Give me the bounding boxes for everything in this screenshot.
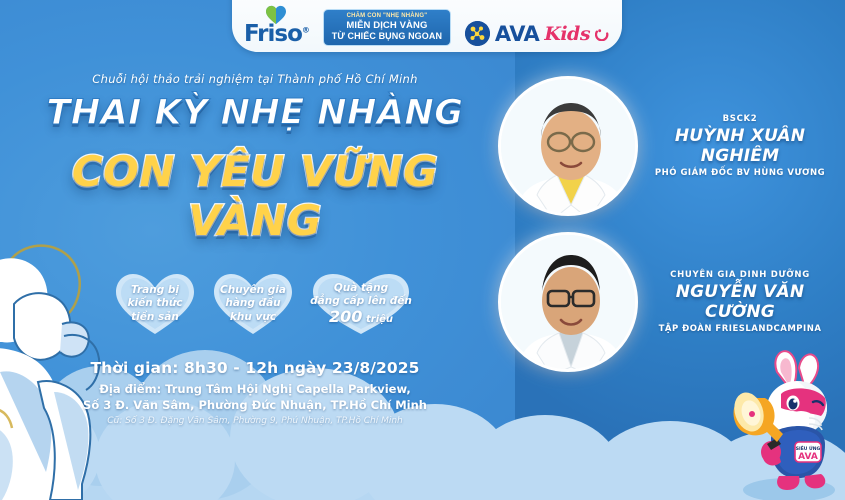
ava-dot-icon [465,21,490,46]
main-content: Chuỗi hội thảo trải nghiệm tại Thành phố… [0,72,510,426]
badge-line: Trang bị [131,284,179,297]
headline-primary: THAI KỲ NHẸ NHÀNG [0,93,510,133]
event-venue-line-2: Số 3 Đ. Văn Sâm, Phường Đức Nhuận, TP.Hồ… [0,398,510,412]
badge-line: kiến thức [127,297,182,310]
ava-kids-logo[interactable]: AVA Kids [465,21,610,46]
ava-wordmark: AVA [495,22,539,46]
friso-logo[interactable]: Friso® [244,5,309,46]
badge-line: Quà tặng [334,282,388,295]
speaker-name: HUỲNH XUÂN NGHIÊM [640,126,840,166]
headline-secondary: CON YÊU VỮNG VÀNG [0,147,510,245]
event-venue-line-1: Địa điểm: Trung Tâm Hội Nghị Capella Par… [0,382,510,396]
badge-line: tiền sản [131,311,179,324]
tagline-line-1: CHĂM CON "NHẸ NHÀNG" [330,13,444,19]
friso-tagline-badge: CHĂM CON "NHẸ NHÀNG" MIỄN DỊCH VÀNG TỪ C… [323,9,451,46]
speaker-meta-1: BSCK2 HUỲNH XUÂN NGHIÊM PHÓ GIÁM ĐỐC BV … [640,114,840,178]
feature-badges: Trang bị kiến thức tiền sản Chuyên gia h… [0,271,510,337]
speaker-card-1: BSCK2 HUỲNH XUÂN NGHIÊM PHÓ GIÁM ĐỐC BV … [498,76,840,216]
speaker-portrait-2 [498,232,638,372]
feature-badge: Quà tặng đẳng cấp lên đến 200 triệu [309,271,413,337]
speaker-organization: PHÓ GIÁM ĐỐC BV HÙNG VƯƠNG [640,168,840,178]
feature-badge-text: Chuyên gia hàng đầu khu vực [211,271,295,337]
badge-highlight-row: 200 triệu [329,308,393,327]
event-time: Thời gian: 8h30 - 12h ngày 23/8/2025 [0,359,510,377]
badge-line: khu vực [230,311,276,324]
feature-badge-text: Trang bị kiến thức tiền sản [113,271,197,337]
friso-wordmark: Friso® [244,23,309,46]
speaker-role: BSCK2 [640,114,840,124]
feature-badge: Trang bị kiến thức tiền sản [113,271,197,337]
promo-banner: Friso® CHĂM CON "NHẸ NHÀNG" MIỄN DỊCH VÀ… [0,0,845,500]
event-kicker: Chuỗi hội thảo trải nghiệm tại Thành phố… [0,72,510,86]
badge-highlight-number: 200 [329,307,362,326]
logo-header-bar: Friso® CHĂM CON "NHẸ NHÀNG" MIỄN DỊCH VÀ… [232,0,622,52]
badge-line: Chuyên gia [220,284,286,297]
speaker-name: NGUYỄN VĂN CƯỜNG [640,282,840,322]
event-info: Thời gian: 8h30 - 12h ngày 23/8/2025 Địa… [0,359,510,426]
ava-rabbit-mascot: SIÊU ỨNG AVA [731,350,843,500]
heart-icon [265,5,287,25]
tagline-line-2: MIỄN DỊCH VÀNG [330,20,444,31]
speaker-organization: TẬP ĐOÀN FRIESLANDCAMPINA [640,324,840,334]
svg-text:AVA: AVA [798,452,818,462]
badge-line: hàng đầu [225,297,280,310]
tagline-line-3: TỪ CHIẾC BỤNG NGOAN [330,31,444,41]
speaker-role: CHUYÊN GIA DINH DƯỠNG [640,270,840,280]
event-venue-former-address: Cũ: Số 3 Đ. Đặng Văn Sâm, Phường 9, Phú … [0,416,510,426]
feature-badge: Chuyên gia hàng đầu khu vực [211,271,295,337]
smile-swirl-icon [595,26,610,41]
feature-badge-text: Quà tặng đẳng cấp lên đến 200 triệu [309,271,413,337]
speaker-meta-2: CHUYÊN GIA DINH DƯỠNG NGUYỄN VĂN CƯỜNG T… [640,270,840,334]
speaker-portrait-1 [498,76,638,216]
badge-highlight-suffix: triệu [366,314,393,325]
ava-kids-wordmark: Kids [544,23,590,45]
